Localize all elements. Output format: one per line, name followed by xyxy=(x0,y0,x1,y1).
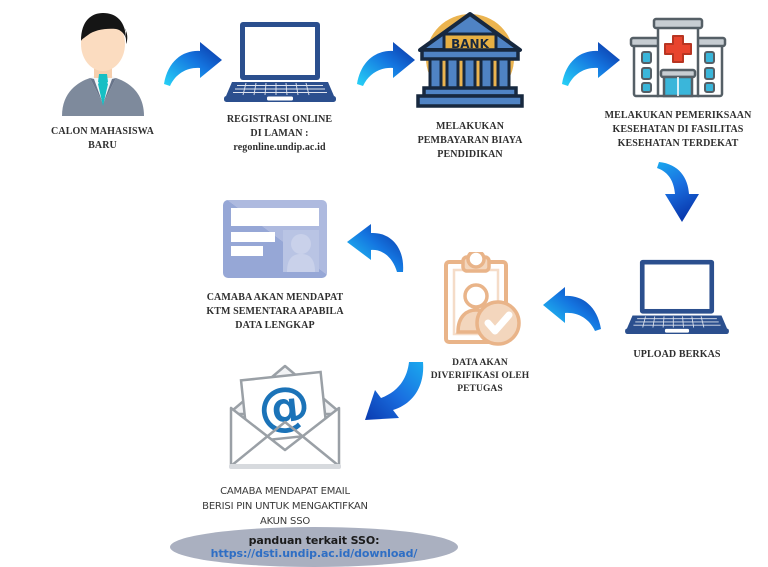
footer-title: panduan terkait SSO: xyxy=(249,534,380,547)
laptop-icon xyxy=(625,258,729,334)
step-node-upload-berkas: UPLOAD BERKAS xyxy=(612,258,742,362)
step-label: CALON MAHASISWA BARU xyxy=(51,125,154,153)
curved-arrow-down-icon-4 xyxy=(655,160,709,230)
curved-arrow-left-icon-5 xyxy=(541,285,603,333)
step-node-registrasi-online: REGISTRASI ONLINE DI LAMAN : regonline.u… xyxy=(207,20,352,154)
step-label: DATA AKAN DIVERIFIKASI OLEH PETUGAS xyxy=(431,357,530,396)
step-node-pemeriksaan-kesehatan: MELAKUKAN PEMERIKSAAN KESEHATAN DI FASIL… xyxy=(592,12,764,150)
id-card-icon xyxy=(221,198,329,280)
laptop-icon xyxy=(224,20,336,102)
step-label: MELAKUKAN PEMERIKSAAN KESEHATAN DI FASIL… xyxy=(605,109,752,150)
hospital-icon xyxy=(628,12,728,102)
svg-text:@: @ xyxy=(255,374,313,439)
step-label: CAMABA MENDAPAT EMAIL BERISI PIN UNTUK M… xyxy=(202,484,368,529)
email-envelope-icon: @ xyxy=(219,362,351,474)
step-node-calon-mahasiswa: CALON MAHASISWA BARU xyxy=(30,8,175,153)
footer-sso-guide-pill[interactable]: panduan terkait SSO: https://dsti.undip.… xyxy=(170,527,458,567)
step-label: MELAKUKAN PEMBAYARAN BIAYA PENDIDIKAN xyxy=(418,120,523,161)
person-avatar-icon xyxy=(48,8,158,116)
step-node-ktm-sementara: CAMABA AKAN MENDAPAT KTM SEMENTARA APABI… xyxy=(195,198,355,332)
step-label: CAMABA AKAN MENDAPAT KTM SEMENTARA APABI… xyxy=(206,291,343,332)
step-node-pembayaran-bank: BANK MELAKUKAN PEMBAYARAN BIAYA PENDIDIK… xyxy=(395,8,545,161)
step-node-verifikasi-data: DATA AKAN DIVERIFIKASI OLEH PETUGAS xyxy=(415,252,545,396)
diagram-canvas: CALON MAHASISWA BARU xyxy=(0,0,768,567)
footer-sso-download-link[interactable]: https://dsti.undip.ac.id/download/ xyxy=(211,547,418,560)
clipboard-check-icon xyxy=(434,252,526,350)
step-label: REGISTRASI ONLINE DI LAMAN : regonline.u… xyxy=(227,113,332,154)
step-node-email-pin-sso: @ CAMABA MENDAPAT EMAIL BERISI PIN UNTUK… xyxy=(180,362,390,529)
bank-icon: BANK xyxy=(416,8,524,112)
step-label: UPLOAD BERKAS xyxy=(633,348,720,362)
